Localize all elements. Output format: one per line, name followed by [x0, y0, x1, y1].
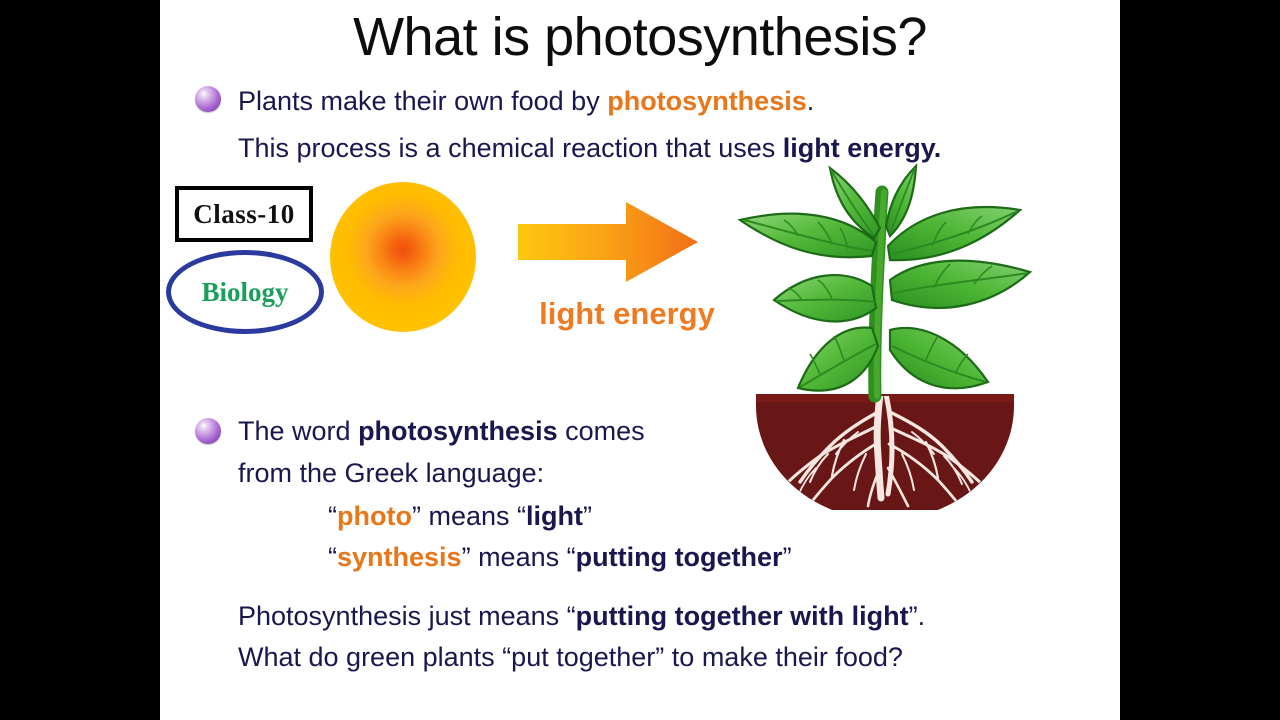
photo-meaning-open-quote: “	[517, 501, 526, 531]
bullet-2-text: The word photosynthesis comes from the G…	[238, 410, 798, 494]
letterbox-left	[0, 0, 160, 720]
bullet-2-emphasis-photosynthesis: photosynthesis	[358, 416, 558, 446]
closing-line-1-open-quote: “	[567, 601, 576, 631]
closing-line-2-quoted: put together	[511, 642, 655, 672]
bullet-1-line-1-part-2: .	[807, 86, 815, 116]
class-badge-label: Class-10	[193, 199, 295, 230]
closing-emphasis: putting together with light	[576, 601, 909, 631]
photo-close-quote: ”	[412, 501, 421, 531]
bullet-1-emphasis-photosynthesis: photosynthesis	[607, 86, 807, 116]
bullet-1-line-1-part-1: Plants make their own food by	[238, 86, 607, 116]
closing-line-1-part-1: Photosynthesis just means	[238, 601, 567, 631]
letterbox-right	[1120, 0, 1280, 720]
bullet-sphere-icon	[195, 418, 221, 444]
slide-canvas: What is photosynthesis? Plants make thei…	[0, 0, 1280, 720]
closing-line-2-close-quote: ”	[655, 642, 664, 672]
definition-meaning-putting-together: putting together	[576, 542, 783, 572]
definition-term-photo: photo	[337, 501, 412, 531]
light-energy-caption: light energy	[512, 296, 742, 332]
sun-icon	[330, 182, 476, 332]
photo-open-quote: “	[328, 501, 337, 531]
closing-line-2-part-2: to make their food?	[664, 642, 903, 672]
closing-line-1: Photosynthesis just means “putting toget…	[238, 596, 1120, 637]
synthesis-meaning-close-quote: ”	[783, 542, 792, 572]
closing-line-2-part-1: What do green plants	[238, 642, 502, 672]
bullet-sphere-icon	[195, 86, 221, 112]
definition-meaning-light: light	[526, 501, 583, 531]
definition-row-photo: “photo” means “light”	[328, 496, 948, 537]
synthesis-connector: means	[471, 542, 567, 572]
page-title: What is photosynthesis?	[160, 6, 1120, 68]
subject-badge-label: Biology	[201, 277, 288, 308]
closing-line-2-open-quote: “	[502, 642, 511, 672]
bullet-1-line-1: Plants make their own food by photosynth…	[238, 78, 1118, 125]
synthesis-close-quote: ”	[462, 542, 471, 572]
definition-row-synthesis: “synthesis” means “putting together”	[328, 537, 948, 578]
closing-paragraph: Photosynthesis just means “putting toget…	[238, 596, 1120, 678]
synthesis-meaning-open-quote: “	[567, 542, 576, 572]
subject-badge: Biology	[166, 250, 324, 334]
photo-connector: means	[421, 501, 517, 531]
closing-line-2: What do green plants “put together” to m…	[238, 637, 1120, 678]
bullet-2-line-1: The word photosynthesis comes	[238, 410, 798, 452]
photo-meaning-close-quote: ”	[583, 501, 592, 531]
greek-definitions: “photo” means “light” “synthesis” means …	[328, 496, 948, 578]
class-badge: Class-10	[175, 186, 313, 242]
synthesis-open-quote: “	[328, 542, 337, 572]
slide-content-area: What is photosynthesis? Plants make thei…	[160, 0, 1120, 720]
definition-term-synthesis: synthesis	[337, 542, 462, 572]
bullet-2-line-1-part-1: The word	[238, 416, 358, 446]
light-energy-arrow-icon	[518, 200, 698, 284]
bullet-1-line-2-part-1: This process is a chemical reaction that…	[238, 133, 783, 163]
bullet-2-line-2: from the Greek language:	[238, 452, 798, 494]
closing-line-1-close-quote: ”	[909, 601, 918, 631]
closing-line-1-part-2: .	[918, 601, 926, 631]
bullet-2-line-1-part-2: comes	[558, 416, 645, 446]
